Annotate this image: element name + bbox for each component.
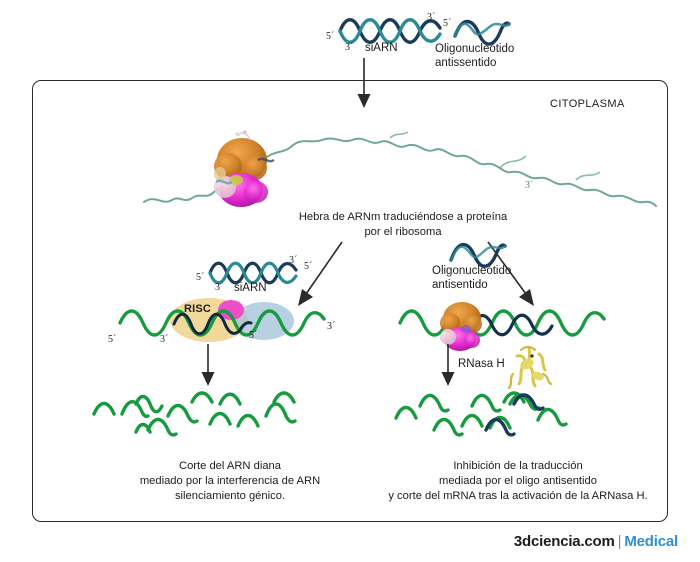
sirna-top-label: siARN [365,41,398,55]
arrow-left-branch-down [196,344,220,388]
sirna-top-prime-5-right: 5´ [443,18,451,29]
left-caption-line1: Corte del ARN diana [80,459,380,474]
oligo-top-label-line1: Oligonucleótido [435,42,514,56]
oligo-right-label-line2: antisentido [432,278,488,292]
right-caption-line2: mediada por el oligo antisentido [368,474,668,489]
sirna-left-label: siARN [234,281,267,295]
oligo-right-label-line1: Oligonucleótido [432,264,511,278]
rnaseh-label: RNasa H [458,357,505,371]
oligo-right-strand [448,240,506,264]
arrow-into-cytoplasm [352,58,376,110]
sirna-left-prime-3-left: 3´ [215,282,223,293]
ribosome-caption-line1: Hebra de ARNm traduciéndose a proteína [298,210,508,225]
sirna-top-prime-3-left: 3´ [345,42,353,53]
arrow-right-branch-down [436,344,460,388]
diagram-canvas: CITOPLASMA 5´ 3´ 3´ 5´ siARN Oligonucleó… [0,0,700,562]
target-left-prime-3-right: 3´ [327,321,335,332]
oligo-top-strand [452,18,512,42]
sirna-top-prime-5-left: 5´ [326,31,334,42]
footer-separator: | [615,533,625,550]
sirna-top-prime-3-right: 3´ [427,12,435,23]
footer-branding: 3dciencia.com|Medical [514,533,678,550]
ribosome [198,130,288,220]
cleaved-rna-fragments-left [92,392,342,450]
left-caption-line3: silenciamiento génico. [80,489,380,504]
oligo-top-label-line2: antissentido [435,56,496,70]
sirna-left-prime-5-right: 5´ [304,261,312,272]
cytoplasm-label: CITOPLASMA [550,98,625,110]
left-caption-line2: mediado por la interferencia de ARN [80,474,380,489]
ribosome-caption-line2: por el ribosoma [298,225,508,240]
ribosome-step-caption: Hebra de ARNm traduciéndose a proteína p… [298,210,508,240]
target-left-prime-3-inner: 3´ [160,334,168,345]
right-branch-caption: Inhibición de la traducción mediada por … [368,459,668,504]
sirna-guide-strand-paired [172,310,254,338]
sirna-left-prime-5-left: 5´ [196,272,204,283]
right-caption-line3: y corte del mRNA tras la activación de l… [368,489,668,504]
footer-domain: 3dciencia.com [514,533,615,550]
right-caption-line1: Inhibición de la traducción [368,459,668,474]
target-left-prime-5: 5´ [108,334,116,345]
cleaved-rna-fragments-right [392,392,642,450]
sirna-left-prime-3-right: 3´ [289,255,297,266]
rnaseh-enzyme-structure [505,344,557,392]
footer-section: Medical [624,533,678,550]
target-left-prime-5-inner: 5´ [249,330,257,341]
left-branch-caption: Corte del ARN diana mediado por la inter… [80,459,380,504]
mrna-prime-3-label: 3´ [525,180,533,191]
